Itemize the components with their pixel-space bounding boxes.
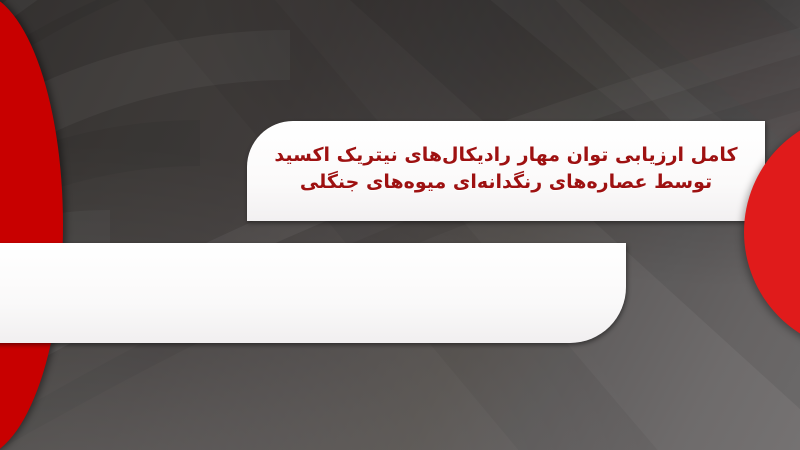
presentation-slide: کامل ارزیابی توان مهار رادیکال‌های نیتری…	[0, 0, 800, 450]
page-title: کامل ارزیابی توان مهار رادیکال‌های نیتری…	[274, 142, 737, 196]
slide-title-plate: کامل ارزیابی توان مهار رادیکال‌های نیتری…	[247, 121, 765, 221]
background-vignette	[0, 0, 800, 450]
slide-content-plate	[0, 243, 626, 343]
